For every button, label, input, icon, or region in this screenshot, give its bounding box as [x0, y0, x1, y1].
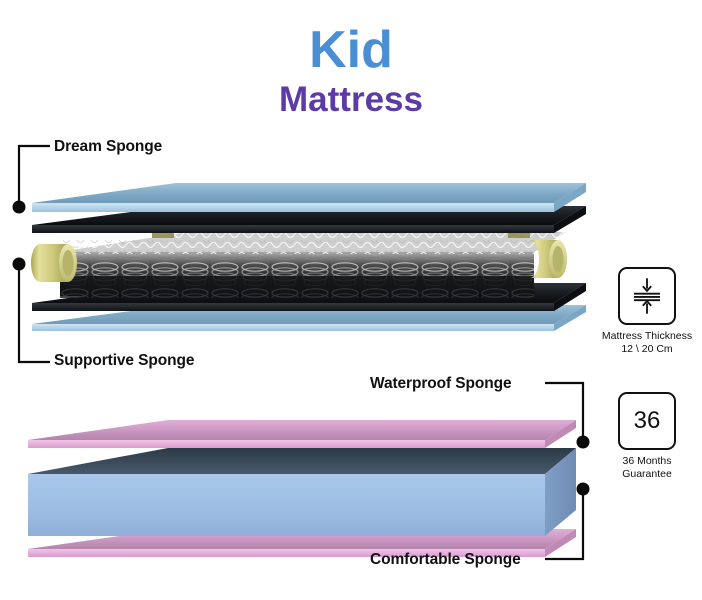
badge-mattress-thickness: Mattress Thickness 12 \ 20 Cm — [592, 267, 702, 355]
callout-label-supportive-sponge: Supportive Sponge — [54, 352, 194, 370]
guarantee-caption-line2: Guarantee — [592, 468, 702, 481]
layer-comfortable-sponge-block — [28, 448, 576, 536]
callout-label-comfortable-sponge: Comfortable Sponge — [370, 551, 521, 569]
thickness-arrows-icon — [620, 269, 674, 323]
thickness-box — [618, 267, 676, 325]
thickness-caption-line2: 12 \ 20 Cm — [592, 343, 702, 356]
guarantee-caption: 36 Months Guarantee — [592, 455, 702, 480]
thickness-caption: Mattress Thickness 12 \ 20 Cm — [592, 330, 702, 355]
mattress-infographic: Kid Mattress — [0, 0, 702, 600]
guarantee-value: 36 — [620, 394, 674, 448]
badge-guarantee: 36 36 Months Guarantee — [592, 392, 702, 480]
layer-spring-core — [31, 228, 567, 298]
callout-label-waterproof-sponge: Waterproof Sponge — [370, 375, 512, 393]
callout-label-dream-sponge: Dream Sponge — [54, 138, 162, 156]
edge-tab-left — [31, 244, 77, 282]
layer-dream-sponge-top — [32, 183, 586, 212]
top-assembly — [31, 183, 586, 331]
bottom-assembly — [28, 420, 576, 557]
thickness-caption-line1: Mattress Thickness — [592, 330, 702, 343]
guarantee-box-icon: 36 — [618, 392, 676, 450]
layer-waterproof-sponge-top — [28, 420, 576, 448]
guarantee-caption-line1: 36 Months — [592, 455, 702, 468]
